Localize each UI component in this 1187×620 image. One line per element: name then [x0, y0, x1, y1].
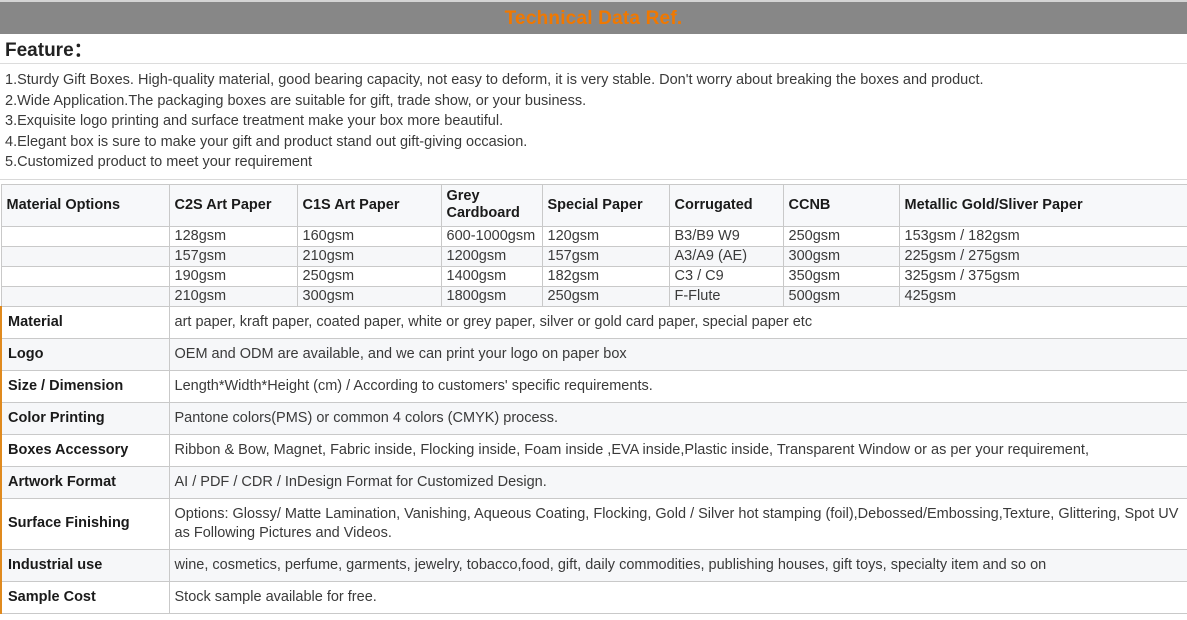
spec-label: Logo	[1, 338, 169, 370]
cell-c2s: 210gsm	[169, 286, 297, 306]
cell-metallic: 425gsm	[899, 286, 1187, 306]
cell-c1s: 160gsm	[297, 226, 441, 246]
spec-row-industrial-use: Industrial use wine, cosmetics, perfume,…	[1, 549, 1187, 581]
technical-spec-table: Material Options C2S Art Paper C1S Art P…	[0, 184, 1187, 614]
cell-corrugated: B3/B9 W9	[669, 226, 783, 246]
column-header-grey-cardboard: Grey Cardboard	[441, 184, 542, 226]
spec-value: Stock sample available for free.	[169, 581, 1187, 613]
page-title: Technical Data Ref.	[505, 9, 683, 28]
spec-value: Pantone colors(PMS) or common 4 colors (…	[169, 402, 1187, 434]
feature-line: 4.Elegant box is sure to make your gift …	[5, 132, 1187, 153]
spec-label: Artwork Format	[1, 466, 169, 498]
feature-heading-row: Feature：	[0, 34, 1187, 64]
spec-value: Length*Width*Height (cm) / According to …	[169, 370, 1187, 402]
spec-row-logo: Logo OEM and ODM are available, and we c…	[1, 338, 1187, 370]
feature-list: 1.Sturdy Gift Boxes. High-quality materi…	[0, 64, 1187, 180]
cell-material-options	[1, 286, 169, 306]
feature-line: 2.Wide Application.The packaging boxes a…	[5, 91, 1187, 112]
spec-row-material: Material art paper, kraft paper, coated …	[1, 306, 1187, 338]
cell-special: 157gsm	[542, 246, 669, 266]
spec-label: Surface Finishing	[1, 498, 169, 549]
cell-metallic: 325gsm / 375gsm	[899, 266, 1187, 286]
feature-heading: Feature：	[5, 35, 93, 62]
cell-c2s: 190gsm	[169, 266, 297, 286]
cell-ccnb: 350gsm	[783, 266, 899, 286]
cell-material-options	[1, 266, 169, 286]
cell-corrugated: A3/A9 (AE)	[669, 246, 783, 266]
column-header-corrugated: Corrugated	[669, 184, 783, 226]
table-row: 210gsm 300gsm 1800gsm 250gsm F-Flute 500…	[1, 286, 1187, 306]
spec-label: Boxes Accessory	[1, 434, 169, 466]
spec-row-size-dimension: Size / Dimension Length*Width*Height (cm…	[1, 370, 1187, 402]
spec-row-surface-finishing: Surface Finishing Options: Glossy/ Matte…	[1, 498, 1187, 549]
cell-corrugated: F-Flute	[669, 286, 783, 306]
table-row: 190gsm 250gsm 1400gsm 182gsm C3 / C9 350…	[1, 266, 1187, 286]
spec-label: Color Printing	[1, 402, 169, 434]
spec-row-sample-cost: Sample Cost Stock sample available for f…	[1, 581, 1187, 613]
cell-special: 120gsm	[542, 226, 669, 246]
column-header-c1s-art-paper: C1S Art Paper	[297, 184, 441, 226]
cell-metallic: 225gsm / 275gsm	[899, 246, 1187, 266]
table-row: 128gsm 160gsm 600-1000gsm 120gsm B3/B9 W…	[1, 226, 1187, 246]
column-header-special-paper: Special Paper	[542, 184, 669, 226]
cell-grey: 1800gsm	[441, 286, 542, 306]
spec-row-color-printing: Color Printing Pantone colors(PMS) or co…	[1, 402, 1187, 434]
spec-value: art paper, kraft paper, coated paper, wh…	[169, 306, 1187, 338]
feature-line: 3.Exquisite logo printing and surface tr…	[5, 111, 1187, 132]
cell-special: 250gsm	[542, 286, 669, 306]
cell-c2s: 128gsm	[169, 226, 297, 246]
cell-c1s: 250gsm	[297, 266, 441, 286]
column-header-c2s-art-paper: C2S Art Paper	[169, 184, 297, 226]
cell-c2s: 157gsm	[169, 246, 297, 266]
table-row: 157gsm 210gsm 1200gsm 157gsm A3/A9 (AE) …	[1, 246, 1187, 266]
cell-grey: 1400gsm	[441, 266, 542, 286]
spec-row-boxes-accessory: Boxes Accessory Ribbon & Bow, Magnet, Fa…	[1, 434, 1187, 466]
cell-ccnb: 500gsm	[783, 286, 899, 306]
title-bar: Technical Data Ref.	[0, 0, 1187, 34]
technical-data-page: Technical Data Ref. Feature： 1.Sturdy Gi…	[0, 0, 1187, 620]
feature-line: 1.Sturdy Gift Boxes. High-quality materi…	[5, 70, 1187, 91]
cell-material-options	[1, 246, 169, 266]
spec-value: wine, cosmetics, perfume, garments, jewe…	[169, 549, 1187, 581]
spec-label: Material	[1, 306, 169, 338]
column-header-material-options: Material Options	[1, 184, 169, 226]
spec-value: Ribbon & Bow, Magnet, Fabric inside, Flo…	[169, 434, 1187, 466]
spec-value: AI / PDF / CDR / InDesign Format for Cus…	[169, 466, 1187, 498]
cell-corrugated: C3 / C9	[669, 266, 783, 286]
cell-grey: 600-1000gsm	[441, 226, 542, 246]
column-header-metallic-gold-sliver-paper: Metallic Gold/Sliver Paper	[899, 184, 1187, 226]
spec-label: Sample Cost	[1, 581, 169, 613]
feature-line: 5.Customized product to meet your requir…	[5, 152, 1187, 173]
cell-ccnb: 250gsm	[783, 226, 899, 246]
spec-value: Options: Glossy/ Matte Lamination, Vanis…	[169, 498, 1187, 549]
cell-c1s: 300gsm	[297, 286, 441, 306]
column-header-ccnb: CCNB	[783, 184, 899, 226]
spec-value: OEM and ODM are available, and we can pr…	[169, 338, 1187, 370]
cell-grey: 1200gsm	[441, 246, 542, 266]
material-header-row: Material Options C2S Art Paper C1S Art P…	[1, 184, 1187, 226]
spec-label: Industrial use	[1, 549, 169, 581]
spec-row-artwork-format: Artwork Format AI / PDF / CDR / InDesign…	[1, 466, 1187, 498]
spec-label: Size / Dimension	[1, 370, 169, 402]
cell-special: 182gsm	[542, 266, 669, 286]
cell-metallic: 153gsm / 182gsm	[899, 226, 1187, 246]
cell-material-options	[1, 226, 169, 246]
cell-c1s: 210gsm	[297, 246, 441, 266]
cell-ccnb: 300gsm	[783, 246, 899, 266]
